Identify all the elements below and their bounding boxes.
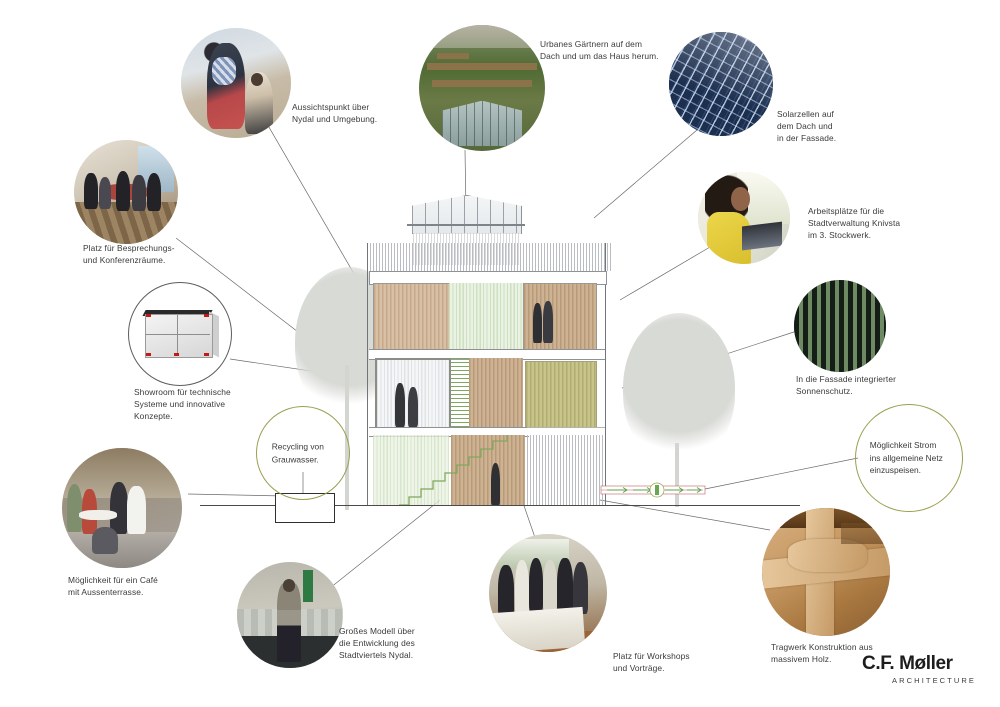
bubble-strom-einspeisen[interactable]: Möglichkeit Strom ins allgemeine Netz ei… [855, 404, 963, 512]
timber-joint-photo [762, 508, 890, 636]
label-besprechungsraeume: Platz für Besprechungs- und Konferenzräu… [83, 242, 233, 266]
label-grauwasser: Recycling von Grauwasser. [272, 440, 324, 465]
rooftop-garden-photo [419, 25, 545, 151]
bubble-showroom[interactable] [128, 282, 232, 386]
level2-wood-center [469, 358, 523, 431]
building-section-drawing [355, 195, 645, 510]
level2-wood-right [525, 361, 597, 429]
stair-level2 [451, 357, 469, 431]
bubble-urbanes-gaertnern[interactable] [419, 25, 545, 151]
bubble-workshops[interactable] [489, 534, 607, 652]
person-level2-a [395, 383, 405, 427]
bubble-tragwerk[interactable] [762, 508, 890, 636]
greenhouse-glazing-hatch [413, 233, 519, 265]
bubble-cafe[interactable] [62, 448, 182, 568]
label-solarzellen: Solarzellen auf dem Dach und in der Fass… [777, 108, 887, 145]
tree-right-icon [623, 313, 735, 463]
bubble-besprechungsraeume[interactable] [74, 140, 178, 244]
viewpoint-photo [181, 28, 291, 138]
cf-moller-logo: C.F. Møller ARCHITECTURE [862, 653, 976, 685]
diagram-canvas: Aussichtspunkt über Nydal und Umgebung. … [0, 0, 1000, 707]
office-worker-photo [698, 172, 790, 264]
energy-flow-diagram [599, 478, 707, 504]
level3-glass-center [449, 283, 523, 349]
city-model-photo [237, 562, 343, 668]
person-ground [491, 463, 500, 505]
ground-stair [395, 433, 525, 507]
label-strom-einspeisen: Möglichkeit Strom ins allgemeine Netz ei… [870, 439, 943, 477]
leader-modell [330, 500, 440, 588]
person-level3-a [533, 303, 542, 343]
label-arbeitsplaetze: Arbeitsplätze für die Stadtverwaltung Kn… [808, 205, 948, 242]
greenhouse-mullions [412, 195, 520, 233]
label-sonnenschutz: In die Fassade integrierter Sonnenschutz… [796, 373, 946, 397]
label-cafe: Möglichkeit für ein Café mit Aussenterra… [68, 574, 213, 598]
level3-wood-left [373, 283, 451, 351]
floor-slab-1-right [527, 427, 605, 434]
bubble-solarzellen[interactable] [669, 32, 773, 136]
bubble-aussichtspunkt[interactable] [181, 28, 291, 138]
person-level2-b [408, 387, 418, 427]
label-aussichtspunkt: Aussichtspunkt über Nydal und Umgebung. [292, 101, 422, 125]
label-stadtmodell: Großes Modell über die Entwicklung des S… [339, 625, 474, 662]
workshop-photo [489, 534, 607, 652]
cafe-terrace-photo [62, 448, 182, 568]
logo-wordmark: C.F. Møller [862, 653, 976, 675]
label-showroom: Showroom für technische Systeme und inno… [134, 386, 274, 423]
solar-panel-photo [669, 32, 773, 136]
facade-louvers-photo [794, 280, 886, 372]
bubble-arbeitsplaetze[interactable] [698, 172, 790, 264]
leader-strom [700, 458, 858, 490]
bubble-stadtmodell[interactable] [237, 562, 343, 668]
bubble-sonnenschutz[interactable] [794, 280, 886, 372]
meeting-room-photo [74, 140, 178, 244]
person-level3-b [543, 301, 553, 343]
ground-hatch-right [527, 435, 603, 505]
building-edge-left [367, 243, 368, 505]
logo-subtitle: ARCHITECTURE [862, 676, 976, 685]
greenhouse-sill [407, 224, 525, 226]
label-workshops: Platz für Workshops und Vorträge. [613, 650, 743, 674]
